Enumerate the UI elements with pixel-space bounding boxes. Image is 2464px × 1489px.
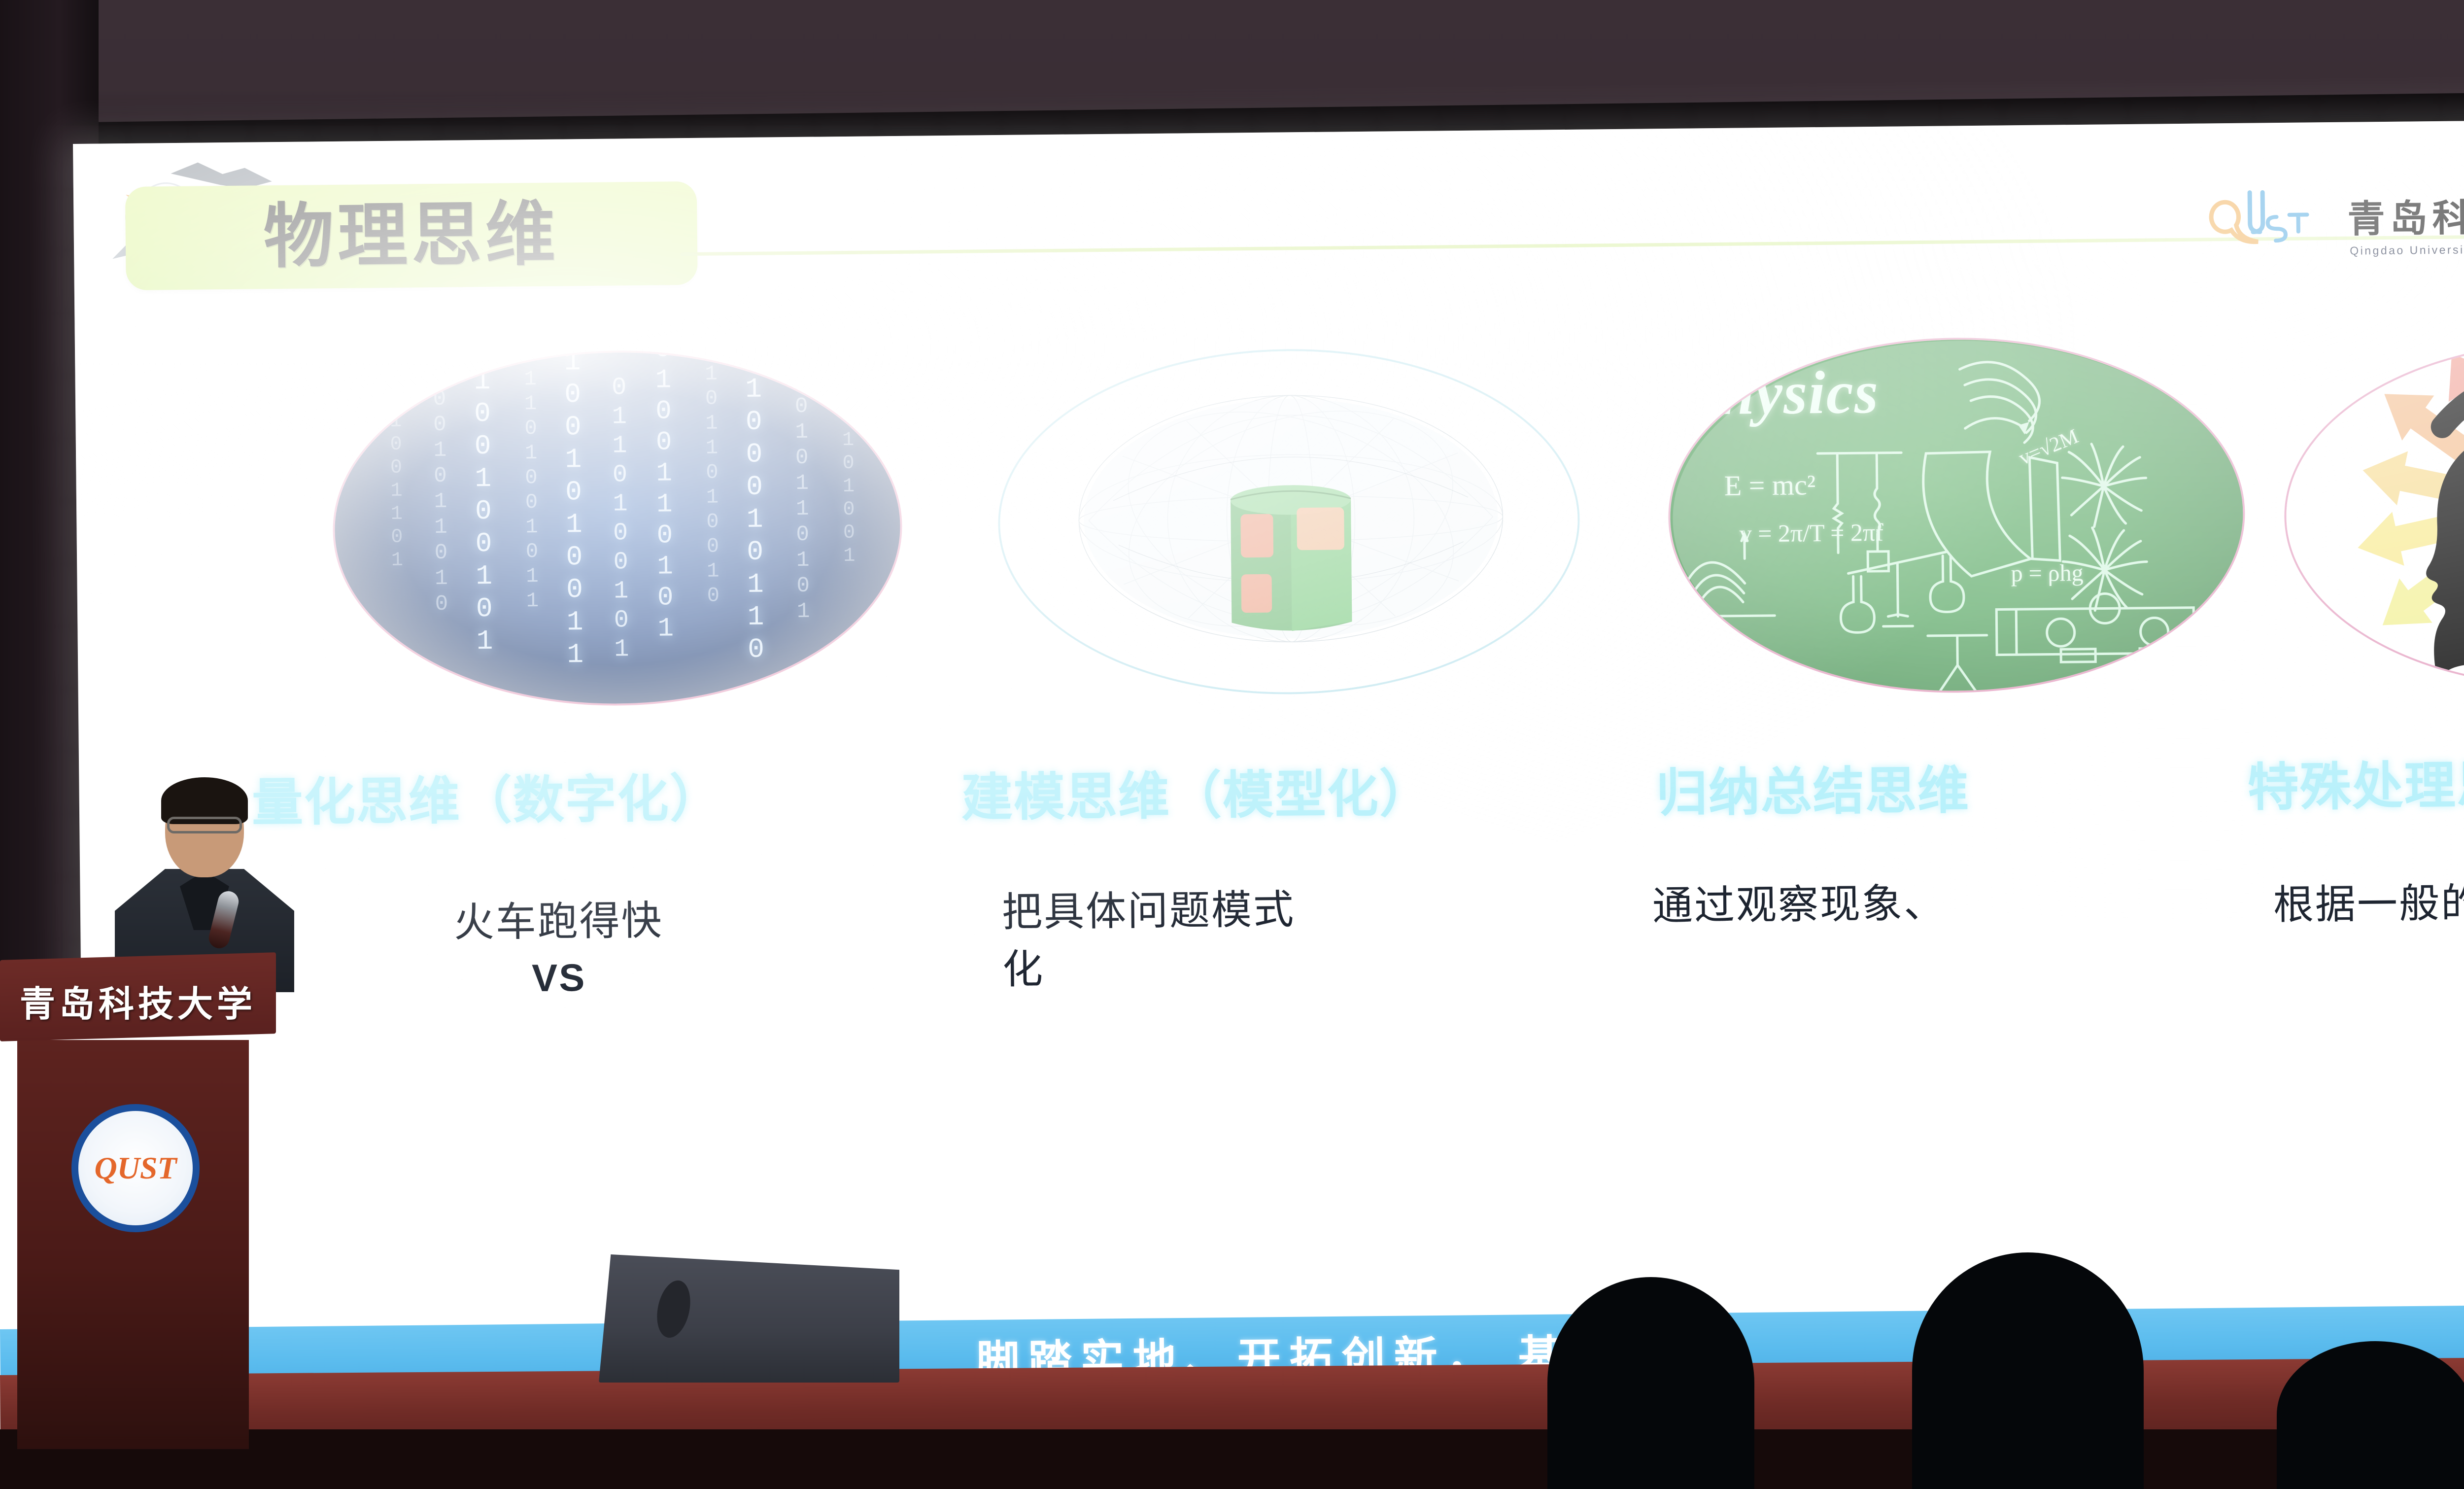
image-physics-chalkboard: physics E = mc² v = 2π/T = 2πf p = ρhg v… <box>1667 335 2247 695</box>
column-heading-1: 量化思维（数字化） <box>251 756 722 835</box>
slide-content: 物理思维 青岛科技大学 Qingdao University of Sci <box>73 118 2464 1329</box>
podium-body <box>17 1040 249 1449</box>
column-2-line-2: 化 <box>1002 936 1525 999</box>
header-divider <box>680 233 2464 256</box>
image-mind-arrows <box>2283 339 2464 690</box>
column-3-line-3: 归纳，得出一般 <box>1653 988 2156 1050</box>
column-1-line-2: VS <box>357 949 761 1007</box>
podium-seal-text: QUST <box>94 1150 176 1186</box>
mesh-sphere-graphic <box>998 348 1579 695</box>
image-binary-code: 0101001101 1001011010 0100100101 1101001… <box>331 348 904 708</box>
mind-arrows-graphic <box>2285 341 2464 688</box>
column-4-line-1: 根据一般的性质 <box>2273 871 2464 934</box>
column-2-line-4: 化 <box>1003 1051 1526 1114</box>
auditorium-scene: 物理思维 青岛科技大学 Qingdao University of Sci <box>0 0 2464 1489</box>
podium-label: 青岛科技大学 <box>5 975 271 1027</box>
podium-seal: QUST <box>71 1104 200 1232</box>
column-headings: 量化思维（数字化） 建模思维（模型化） 归纳总结思维 特殊处理思维 <box>79 736 2464 846</box>
monitor-port <box>652 1278 695 1341</box>
audience-head-1 <box>1547 1277 1754 1489</box>
page-title: 物理思维 <box>263 200 559 273</box>
column-body-1: 火车跑得快 VS 拖拉机跑得快 <box>356 892 762 1065</box>
column-3-line-4: 规律。 <box>1654 1045 2157 1108</box>
slide-title-pill: 物理思维 <box>125 181 698 290</box>
column-3-line-2: 大量实验，进行 <box>1653 931 2156 993</box>
projection-screen: 物理思维 青岛科技大学 Qingdao University of Sci <box>73 118 2464 1329</box>
university-name-cn: 青岛科技大学 <box>2347 186 2464 243</box>
lecture-podium: 青岛科技大学 QUST <box>0 956 286 1449</box>
university-logo: 青岛科技大学 Qingdao University of Science & T… <box>2202 177 2464 251</box>
chalkboard-graphic: physics E = mc² v = 2π/T = 2πf p = ρhg v… <box>1669 337 2245 693</box>
image-3d-mesh-model <box>996 346 1581 697</box>
column-heading-2: 建模思维（模型化） <box>961 752 1432 831</box>
concept-image-row: 0101001101 1001011010 0100100101 1101001… <box>75 325 2464 726</box>
column-2-line-3: 把抽象问题模型 <box>1003 994 1526 1057</box>
column-heading-4: 特殊处理思维 <box>2247 743 2464 820</box>
binary-rain-graphic: 0101001101 1001011010 0100100101 1101001… <box>333 350 902 706</box>
column-1-line-1: 火车跑得快 <box>356 892 761 953</box>
column-3-line-1: 通过观察现象、 <box>1652 873 2155 935</box>
column-4-line-2: 过特殊的情形得 <box>2274 929 2464 992</box>
column-body-3: 通过观察现象、 大量实验，进行 归纳，得出一般 规律。 <box>1652 873 2156 1108</box>
column-body-4: 根据一般的性质 过特殊的情形得 律，再推广到一 <box>2273 871 2464 1049</box>
speaker-glasses-icon <box>167 817 242 833</box>
qust-mark-icon <box>2202 184 2331 249</box>
column-bodies: 火车跑得快 VS 拖拉机跑得快 把具体问题模式 化 把抽象问题模型 化 通过观察… <box>80 867 2464 1169</box>
column-heading-3: 归纳总结思维 <box>1656 748 1970 826</box>
column-1-line-3: 拖拉机跑得快 <box>357 1004 762 1065</box>
column-2-line-1: 把具体问题模式 <box>1002 879 1525 942</box>
audience-head-2 <box>1912 1252 2144 1489</box>
audience-head-3 <box>2277 1341 2464 1489</box>
column-body-2: 把具体问题模式 化 把抽象问题模型 化 <box>1002 879 1526 1114</box>
university-name-en: Qingdao University of Science & Technolo… <box>2350 242 2464 258</box>
stage-monitor-speaker <box>599 1254 899 1383</box>
column-4-line-3: 律，再推广到一 <box>2274 986 2464 1049</box>
